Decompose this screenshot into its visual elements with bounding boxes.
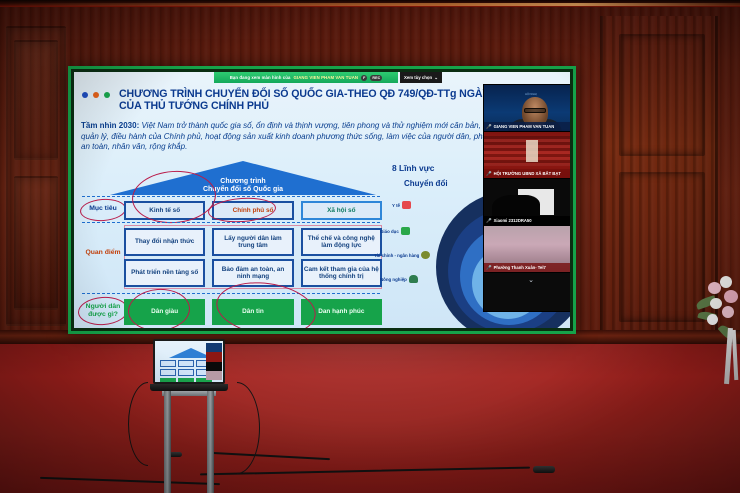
presenter-laptop[interactable] bbox=[150, 339, 228, 391]
stand-leg-left bbox=[164, 389, 171, 493]
floor-microphone bbox=[533, 466, 555, 473]
label-nguoi-dan-l2: được gì? bbox=[88, 311, 118, 318]
slide-dot-orange bbox=[93, 92, 99, 98]
mirror-outcome-1 bbox=[178, 378, 194, 382]
share-banner-user: GIANG VIEN PHAM VAN TUAN bbox=[293, 75, 358, 80]
outcome-cell-1: Dân tin bbox=[212, 299, 293, 325]
mic-icon: 🎤 bbox=[486, 218, 492, 224]
wall-panel-left-inset-top bbox=[14, 40, 58, 160]
sector-label-0: Y tế bbox=[392, 203, 400, 208]
participant-name-row-1: 🎤 HỘI TRƯỜNG UBND XÃ BẤT BẠT bbox=[484, 169, 570, 178]
mirror-cell-3 bbox=[160, 369, 176, 376]
outcome-cell-0: Dân giàu bbox=[124, 299, 205, 325]
label-nguoi-dan: Người dân được gì? bbox=[82, 303, 124, 319]
bloom-white-3 bbox=[707, 314, 718, 325]
health-icon bbox=[402, 201, 411, 209]
goal-cell-1: Chính phủ số bbox=[212, 201, 293, 220]
education-icon bbox=[401, 227, 410, 235]
stand-leg-right bbox=[207, 389, 214, 493]
sector-label-3: Nông nghiệp bbox=[380, 277, 407, 282]
agriculture-icon bbox=[409, 275, 418, 283]
divider-top bbox=[82, 196, 380, 197]
mic-icon: 🎤 bbox=[486, 171, 492, 177]
zoom-participant-filmstrip[interactable]: HỘI NGHỊ 🎤 GIANG VIEN PHAM VAN TUAN 🎤 HỘ… bbox=[483, 84, 570, 312]
bloom-white-1 bbox=[720, 276, 732, 288]
chevron-down-icon: ⌄ bbox=[434, 75, 438, 81]
mirror-tile-0 bbox=[206, 343, 222, 352]
participant-tile-0[interactable]: HỘI NGHỊ 🎤 GIANG VIEN PHAM VAN TUAN bbox=[484, 85, 570, 132]
view-cell-5: Cam kết tham gia của hệ thống chính trị bbox=[301, 259, 382, 287]
mic-icon: 🎤 bbox=[486, 124, 492, 130]
participant-name-row-0: 🎤 GIANG VIEN PHAM VAN TUAN bbox=[484, 122, 570, 131]
laptop-lid bbox=[153, 339, 225, 384]
sector-label-1: Giáo dục bbox=[380, 229, 399, 234]
sector-giao-duc: Giáo dục bbox=[380, 227, 410, 235]
slide-dot-green bbox=[104, 92, 110, 98]
slide-dot-blue bbox=[82, 92, 88, 98]
view-cell-1: Lấy người dân làm trung tâm bbox=[212, 228, 293, 256]
mirror-tile-2 bbox=[206, 362, 222, 371]
participant-name-row-2: 🎤 Xiaomi 2312DRA50 bbox=[484, 216, 570, 225]
bloom-pink-3 bbox=[722, 306, 734, 318]
mic-icon: 🎤 bbox=[486, 265, 492, 271]
mirror-cell-4 bbox=[178, 369, 194, 376]
view-cell-2: Thể chế và công nghệ làm động lực bbox=[301, 228, 382, 256]
view-options-label: Xem tùy chọn bbox=[404, 75, 432, 80]
participant-tile-2[interactable]: 🎤 Xiaomi 2312DRA50 bbox=[484, 179, 570, 226]
house-diagram: Chương trình Chuyển đổi số Quốc gia Mục … bbox=[80, 161, 382, 328]
laptop-stand bbox=[162, 389, 216, 493]
outcome-cell-2: Dan hạnh phúc bbox=[301, 299, 382, 325]
label-muc-tieu: Mục tiêu bbox=[82, 205, 124, 213]
glasses-icon bbox=[524, 108, 546, 113]
outcomes-row: Dân giàu Dân tin Dan hạnh phúc bbox=[124, 299, 382, 325]
floral-arrangement bbox=[694, 272, 740, 390]
roof-line-2: Chuyển đổi số Quốc gia bbox=[203, 186, 283, 194]
house-roof: Chương trình Chuyển đổi số Quốc gia bbox=[110, 161, 376, 195]
views-row-1: Thay đổi nhận thức Lấy người dân làm tru… bbox=[124, 228, 382, 256]
participant-name-1: HỘI TRƯỜNG UBND XÃ BẤT BẠT bbox=[494, 171, 561, 176]
share-pill-rec: REC bbox=[370, 75, 382, 81]
sector-y-te: Y tế bbox=[392, 201, 411, 209]
label-quan-diem: Quan điểm bbox=[82, 249, 124, 257]
vision-label: Tầm nhìn 2030: bbox=[81, 121, 139, 130]
bloom-pink-2 bbox=[724, 290, 738, 303]
chart-subheading: Chuyển đổi bbox=[404, 179, 448, 188]
mirror-outcome-0 bbox=[160, 378, 176, 382]
ceiling-light-strip bbox=[0, 0, 740, 7]
sector-tai-chinh: Tài chính - ngân hàng bbox=[374, 251, 430, 259]
goal-cell-0: Kinh tế số bbox=[124, 201, 205, 220]
chart-heading: 8 Lĩnh vực bbox=[392, 163, 434, 173]
laptop-base bbox=[150, 384, 228, 391]
label-nguoi-dan-l1: Người dân bbox=[86, 303, 121, 310]
bloom-pink-1 bbox=[708, 282, 721, 294]
sector-nong-nghiep: Nông nghiệp bbox=[380, 275, 418, 283]
wall-panel-left-inset-bottom bbox=[14, 176, 58, 310]
bloom-white-2 bbox=[710, 298, 722, 309]
ribbon-2 bbox=[732, 330, 739, 380]
participant-tile-1[interactable]: 🎤 HỘI TRƯỜNG UBND XÃ BẤT BẠT bbox=[484, 132, 570, 179]
view-cell-0: Thay đổi nhận thức bbox=[124, 228, 205, 256]
goals-row: Kinh tế số Chính phủ số Xã hội số bbox=[124, 201, 382, 220]
sector-label-2: Tài chính - ngân hàng bbox=[374, 253, 419, 258]
participant-name-2: Xiaomi 2312DRA50 bbox=[494, 218, 532, 223]
conference-hall-photo: Bạn đang xem màn hình của GIANG VIEN PHA… bbox=[0, 0, 740, 493]
participant-name-0: GIANG VIEN PHAM VAN TUAN bbox=[494, 124, 555, 129]
projection-screen: Bạn đang xem màn hình của GIANG VIEN PHA… bbox=[68, 66, 576, 334]
roof-line-1: Chương trình bbox=[220, 178, 265, 186]
screen-surface: Bạn đang xem màn hình của GIANG VIEN PHA… bbox=[74, 72, 570, 328]
slide-dots bbox=[82, 92, 110, 98]
divider-goals bbox=[82, 222, 380, 223]
filmstrip-scroll-down-button[interactable]: ⌄ bbox=[484, 273, 570, 286]
goal-cell-2: Xã hội số bbox=[301, 201, 382, 220]
view-cell-3: Phát triển nền tảng số bbox=[124, 259, 205, 287]
mirror-filmstrip bbox=[206, 343, 222, 380]
share-pill-left: F bbox=[361, 75, 367, 81]
laptop-screen-mirror bbox=[155, 341, 223, 382]
view-cell-4: Bảo đảm an toàn, an ninh mạng bbox=[212, 259, 293, 287]
finance-icon bbox=[421, 251, 430, 259]
participant-name-row-3: 🎤 Phường Thanh Xuân- Tel7 bbox=[484, 263, 570, 272]
share-banner-prefix: Bạn đang xem màn hình của bbox=[230, 75, 291, 80]
divider-outcomes bbox=[82, 293, 380, 294]
views-row-2: Phát triển nền tảng số Bảo đảm an toàn, … bbox=[124, 259, 382, 287]
mirror-tile-3 bbox=[206, 371, 222, 380]
door-panel-lower bbox=[619, 172, 705, 322]
mirror-cell-0 bbox=[160, 360, 176, 367]
door-panel-upper bbox=[619, 34, 705, 156]
view-options-button[interactable]: Xem tùy chọn ⌄ bbox=[400, 72, 442, 83]
participant-tile-3[interactable]: 🎤 Phường Thanh Xuân- Tel7 bbox=[484, 226, 570, 273]
screen-share-banner: Bạn đang xem màn hình của GIANG VIEN PHA… bbox=[214, 72, 398, 83]
tile-1-podium bbox=[526, 140, 538, 162]
mirror-tile-1 bbox=[206, 352, 222, 361]
mirror-cell-1 bbox=[178, 360, 194, 367]
participant-name-3: Phường Thanh Xuân- Tel7 bbox=[494, 265, 546, 270]
